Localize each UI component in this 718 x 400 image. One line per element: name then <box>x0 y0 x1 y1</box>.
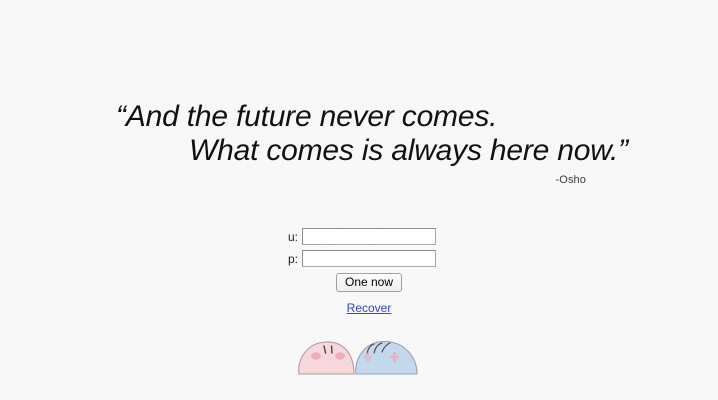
pink-blob-mascot <box>299 342 354 374</box>
pink-eye-right <box>332 346 333 353</box>
quote-line-1: “And the future never comes. <box>0 100 718 134</box>
blue-blob-mascot <box>356 341 417 374</box>
password-input[interactable] <box>302 250 436 267</box>
recover-row: Recover <box>0 301 718 315</box>
mascot-illustration <box>296 332 421 380</box>
pink-blush-left <box>311 352 321 359</box>
login-page: “And the future never comes. What comes … <box>0 0 718 400</box>
login-submit-button[interactable]: One now <box>336 273 402 292</box>
username-label: u: <box>282 230 298 244</box>
quote-block: “And the future never comes. What comes … <box>0 100 718 186</box>
quote-attribution: -Osho <box>0 174 718 186</box>
pink-blush-right <box>335 352 345 359</box>
username-input[interactable] <box>302 228 436 245</box>
password-label: p: <box>282 252 298 266</box>
username-row: u: <box>0 228 718 245</box>
submit-row: One now <box>0 273 718 292</box>
recover-password-link[interactable]: Recover <box>347 301 392 315</box>
password-row: p: <box>0 250 718 267</box>
login-form: u: p: One now Recover <box>0 228 718 315</box>
quote-line-2: What comes is always here now.” <box>0 134 718 168</box>
